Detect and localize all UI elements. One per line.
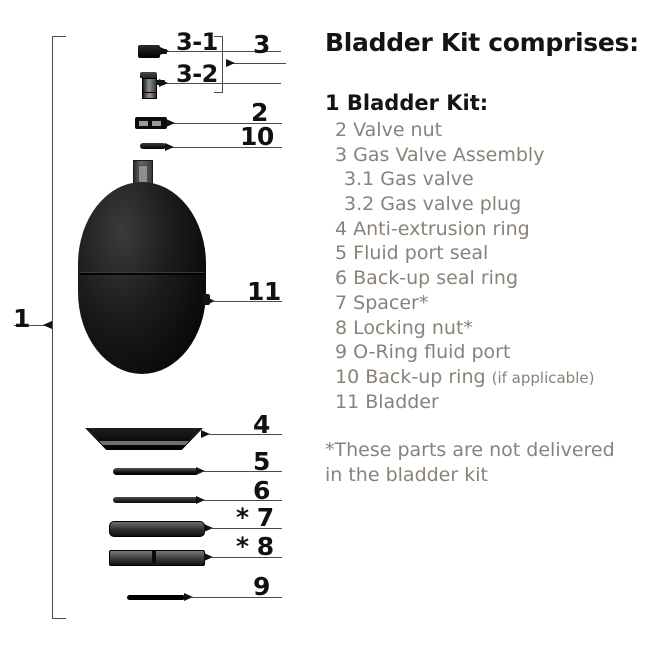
legend-item-num: 8	[335, 317, 347, 339]
legend-item: 5 Fluid port seal	[325, 241, 640, 266]
legend-item: 3 Gas Valve Assembly	[325, 143, 640, 168]
legend-item-num: 3.1	[344, 168, 374, 190]
leader-arrow-backup-seal-ring-icon	[196, 496, 205, 504]
callout-gas-valve-plug: 3-2	[176, 62, 218, 86]
legend-item-qualifier: (if applicable)	[492, 369, 595, 387]
leader-arrow-gas-valve-assembly-icon	[226, 59, 235, 67]
legend-item-num: 6	[335, 267, 347, 289]
callout-locking-nut: * 8	[236, 534, 274, 559]
legend-item: 10 Back-up ring (if applicable)	[325, 365, 640, 390]
part-gas-valve	[138, 45, 160, 58]
part-oring-fluid-port	[127, 595, 185, 600]
part-bladder-body	[78, 182, 206, 374]
legend-item-text: Valve nut	[353, 119, 442, 141]
legend-item-text: Bladder	[365, 391, 439, 413]
callout-gas-valve-assembly: 3	[253, 32, 270, 57]
callout-bladder: 11	[247, 279, 281, 304]
legend-footnote: *These parts are not delivered in the bl…	[325, 438, 640, 487]
legend-item-num: 10	[335, 366, 359, 388]
diagram-page: 1 3-1 3-2 3 2 10 11 4 5 6	[0, 0, 650, 650]
legend-item-text: Gas valve plug	[380, 193, 521, 215]
legend-item-text: Spacer*	[353, 292, 428, 314]
callout-fluid-port-seal: 5	[253, 449, 270, 474]
part-bladder-stem-inner	[138, 165, 148, 183]
leader-arrow-gas-valve-plug-icon	[159, 79, 168, 87]
part-anti-extrusion-ring-inner	[99, 441, 189, 445]
part-valve-nut-band-left	[139, 121, 148, 126]
legend-footnote-line2: in the bladder kit	[325, 463, 640, 487]
legend-item-list: 2 Valve nut 3 Gas Valve Assembly 3.1 Gas…	[325, 118, 640, 414]
part-valve-nut-band-right	[152, 121, 161, 126]
assembly-bracket-vertical	[52, 36, 53, 619]
part-backup-ring	[140, 143, 166, 149]
part-gas-valve-plug-foot	[142, 92, 157, 99]
callout-gas-valve: 3-1	[176, 30, 218, 54]
legend-item-text: Anti-extrusion ring	[353, 218, 530, 240]
part-backup-seal-ring	[113, 497, 199, 503]
legend-title: Bladder Kit comprises:	[325, 28, 640, 57]
leader-arrow-bladder-icon	[206, 297, 215, 305]
legend-footnote-line1: *These parts are not delivered	[325, 438, 640, 462]
leader-line-backup-seal-ring	[204, 500, 282, 501]
legend-item-num: 3.2	[344, 193, 374, 215]
legend-item-text: Fluid port seal	[353, 242, 488, 264]
legend-item-num: 2	[335, 119, 347, 141]
callout-backup-seal-ring: 6	[253, 478, 270, 503]
callout-backup-ring: 10	[240, 124, 274, 149]
legend-item-text: Gas valve	[380, 168, 473, 190]
gas-valve-assembly-bracket-bottom	[214, 92, 223, 93]
legend-item: 8 Locking nut*	[325, 316, 640, 341]
legend-item: 2 Valve nut	[325, 118, 640, 143]
assembly-bracket-top	[52, 36, 66, 37]
legend-item-text: Locking nut*	[353, 317, 473, 339]
callout-spacer: * 7	[236, 505, 274, 530]
legend-panel: Bladder Kit comprises: 1 Bladder Kit: 2 …	[325, 28, 640, 487]
legend-item-num: 3	[335, 144, 347, 166]
part-spacer	[109, 521, 205, 537]
legend-item-text: O-Ring fluid port	[353, 341, 510, 363]
legend-item: 4 Anti-extrusion ring	[325, 217, 640, 242]
part-locking-nut	[109, 550, 205, 566]
part-bladder-seam	[80, 272, 204, 275]
legend-item-text: Back-up ring	[365, 366, 485, 388]
leader-arrow-fluid-port-seal-icon	[196, 467, 205, 475]
legend-item: 3.2 Gas valve plug	[325, 192, 640, 217]
callout-assembly: 1	[13, 306, 30, 331]
legend-item: 7 Spacer*	[325, 291, 640, 316]
legend-item-num: 7	[335, 292, 347, 314]
leader-arrow-locking-nut-icon	[204, 553, 213, 561]
gas-valve-assembly-bracket-top	[214, 36, 223, 37]
gas-valve-assembly-bracket-vertical	[222, 36, 223, 93]
leader-line-fluid-port-seal	[204, 471, 282, 472]
part-anti-extrusion-ring	[85, 428, 203, 450]
legend-item: 9 O-Ring fluid port	[325, 340, 640, 365]
assembly-bracket-bottom	[52, 618, 66, 619]
leader-arrow-backup-ring-icon	[165, 143, 174, 151]
callout-anti-extrusion-ring: 4	[253, 412, 270, 437]
legend-kit-heading: 1 Bladder Kit:	[325, 91, 640, 115]
leader-arrow-spacer-icon	[204, 524, 213, 532]
legend-item-num: 4	[335, 218, 347, 240]
legend-item: 6 Back-up seal ring	[325, 266, 640, 291]
leader-arrow-oring-fluid-port-icon	[184, 593, 193, 601]
leader-arrow-valve-nut-icon	[166, 119, 175, 127]
legend-item-text: Gas Valve Assembly	[353, 144, 544, 166]
callout-oring-fluid-port: 9	[253, 574, 270, 599]
part-fluid-port-seal	[113, 468, 199, 475]
leader-line-gas-valve-assembly	[232, 63, 286, 64]
leader-arrow-anti-extrusion-ring-icon	[201, 430, 210, 438]
legend-item: 3.1 Gas valve	[325, 167, 640, 192]
leader-arrow-gas-valve-icon	[160, 47, 169, 55]
assembly-arrow-icon	[43, 321, 52, 329]
part-locking-nut-notch	[152, 551, 156, 563]
legend-item-num: 5	[335, 242, 347, 264]
leader-line-anti-extrusion-ring	[209, 434, 282, 435]
legend-item-num: 11	[335, 391, 359, 413]
legend-item-text: Back-up seal ring	[353, 267, 518, 289]
legend-item-num: 9	[335, 341, 347, 363]
legend-item: 11 Bladder	[325, 390, 640, 415]
